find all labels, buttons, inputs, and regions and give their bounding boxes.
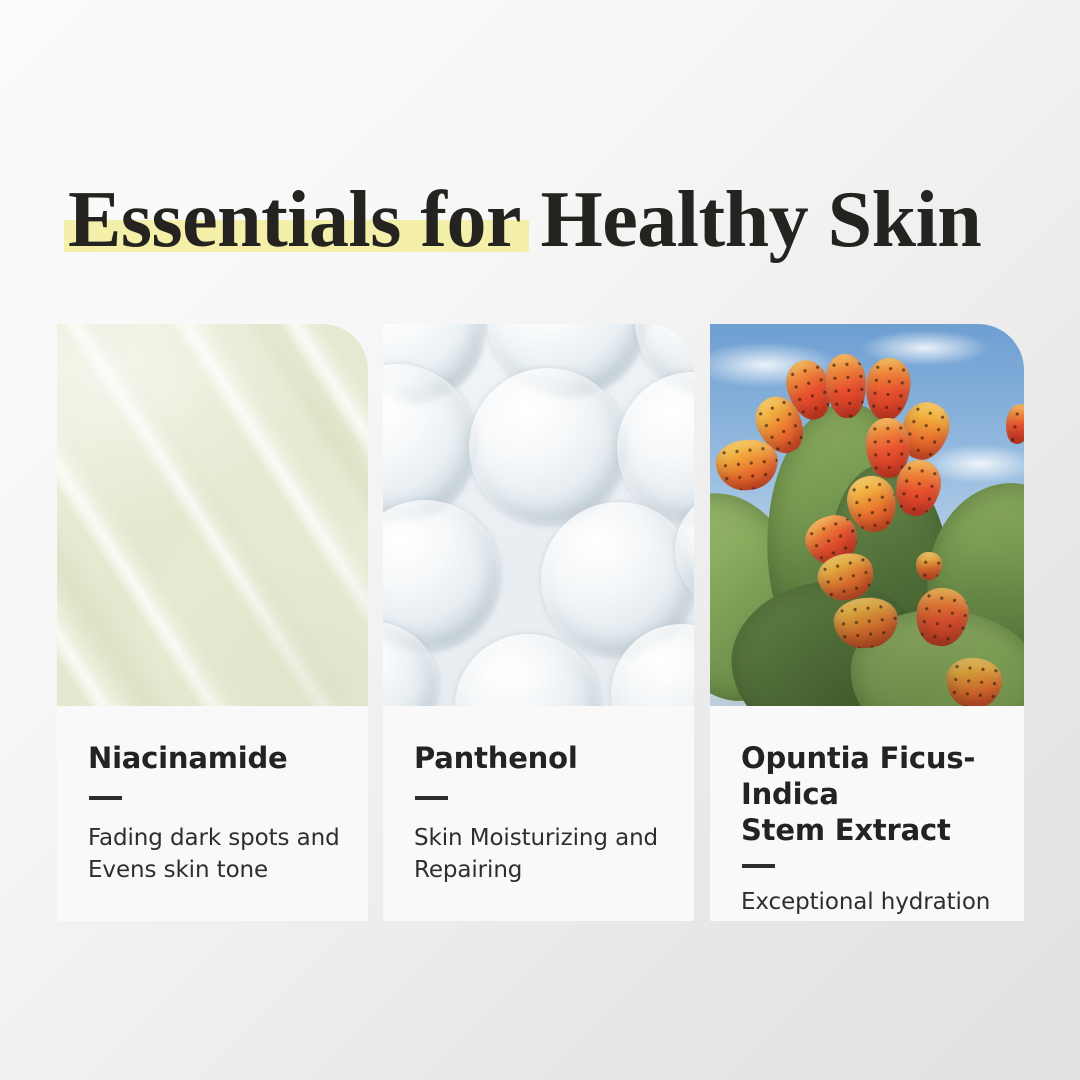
cactus-fruit [863,356,913,422]
ingredient-description: Skin Moisturizing and Repairing [414,822,670,886]
cactus-photo-art [710,324,1024,706]
divider-dash [415,796,448,800]
cactus-fruit [915,551,943,581]
headline-highlighted-segment: Essentials for [68,176,521,264]
cloud [920,444,1024,484]
cactus-fruit [894,396,956,465]
infographic-canvas: Essentials for Healthy Skin Niacinamide … [0,0,1080,1080]
cactus-pad [722,570,932,706]
prickly-pear-cactus-image [710,324,1024,706]
ingredient-title: Panthenol [414,740,670,776]
cactus-fruit [832,595,901,651]
bubble [617,372,694,524]
ingredient-title-line-1: Opuntia Ficus-Indica [741,741,975,811]
cactus-fruit [714,437,781,493]
ingredient-card-opuntia-ficus-indica: Opuntia Ficus-Indica Stem Extract Except… [710,324,1024,921]
ingredient-title-line-2: Stem Extract [741,813,951,847]
ingredient-card-panthenol: Panthenol Skin Moisturizing and Repairin… [383,324,694,921]
ingredient-title: Opuntia Ficus-Indica Stem Extract [741,740,1000,848]
cactus-pad [710,477,825,706]
cactus-pad [843,600,1024,706]
cactus-fruit [944,655,1005,706]
gel-bubbles-image [383,324,694,706]
ingredient-description-line-1: Exceptional hydration [741,889,990,915]
cactus-fruit [865,417,911,478]
cactus-pad [905,465,1024,689]
ingredient-description-line-1: Skin Moisturizing and [414,825,658,851]
bubble [469,368,627,526]
cactus-fruit [824,353,868,420]
ingredient-card-body: Panthenol Skin Moisturizing and Repairin… [383,706,694,921]
ingredient-title: Niacinamide [88,740,344,776]
cream-texture-art [57,324,368,706]
headline-plain-segment: Healthy Skin [521,176,981,264]
cactus-fruit [1003,402,1024,446]
page-title: Essentials for Healthy Skin [68,176,1028,264]
ingredient-card-body: Niacinamide Fading dark spots and Evens … [57,706,368,921]
cloud [860,330,990,366]
cactus-fruit [891,456,946,520]
gel-bubbles-art [383,324,694,706]
cactus-fruit [843,472,902,537]
cactus-pad [822,460,958,698]
ingredient-description-line-2: Evens skin tone [88,857,268,883]
cloud [710,342,840,388]
cactus-fruit [781,355,838,424]
divider-dash [89,796,122,800]
ingredient-card-grid: Niacinamide Fading dark spots and Evens … [57,324,1024,921]
ingredient-description-line-2: Repairing [414,857,522,883]
cactus-fruit [911,584,972,650]
divider-dash [742,864,775,868]
cactus-fruit [813,548,878,606]
ingredient-card-niacinamide: Niacinamide Fading dark spots and Evens … [57,324,368,921]
ingredient-description: Fading dark spots and Evens skin tone [88,822,344,886]
ingredient-description: Exceptional hydration [741,886,1000,918]
ingredient-description-line-1: Fading dark spots and [88,825,340,851]
headline-text: Essentials for Healthy Skin [68,176,981,264]
cactus-pad [751,394,920,660]
cactus-fruit [799,508,865,572]
cream-texture-image [57,324,368,706]
cactus-fruit [748,389,813,460]
ingredient-card-body: Opuntia Ficus-Indica Stem Extract Except… [710,706,1024,921]
